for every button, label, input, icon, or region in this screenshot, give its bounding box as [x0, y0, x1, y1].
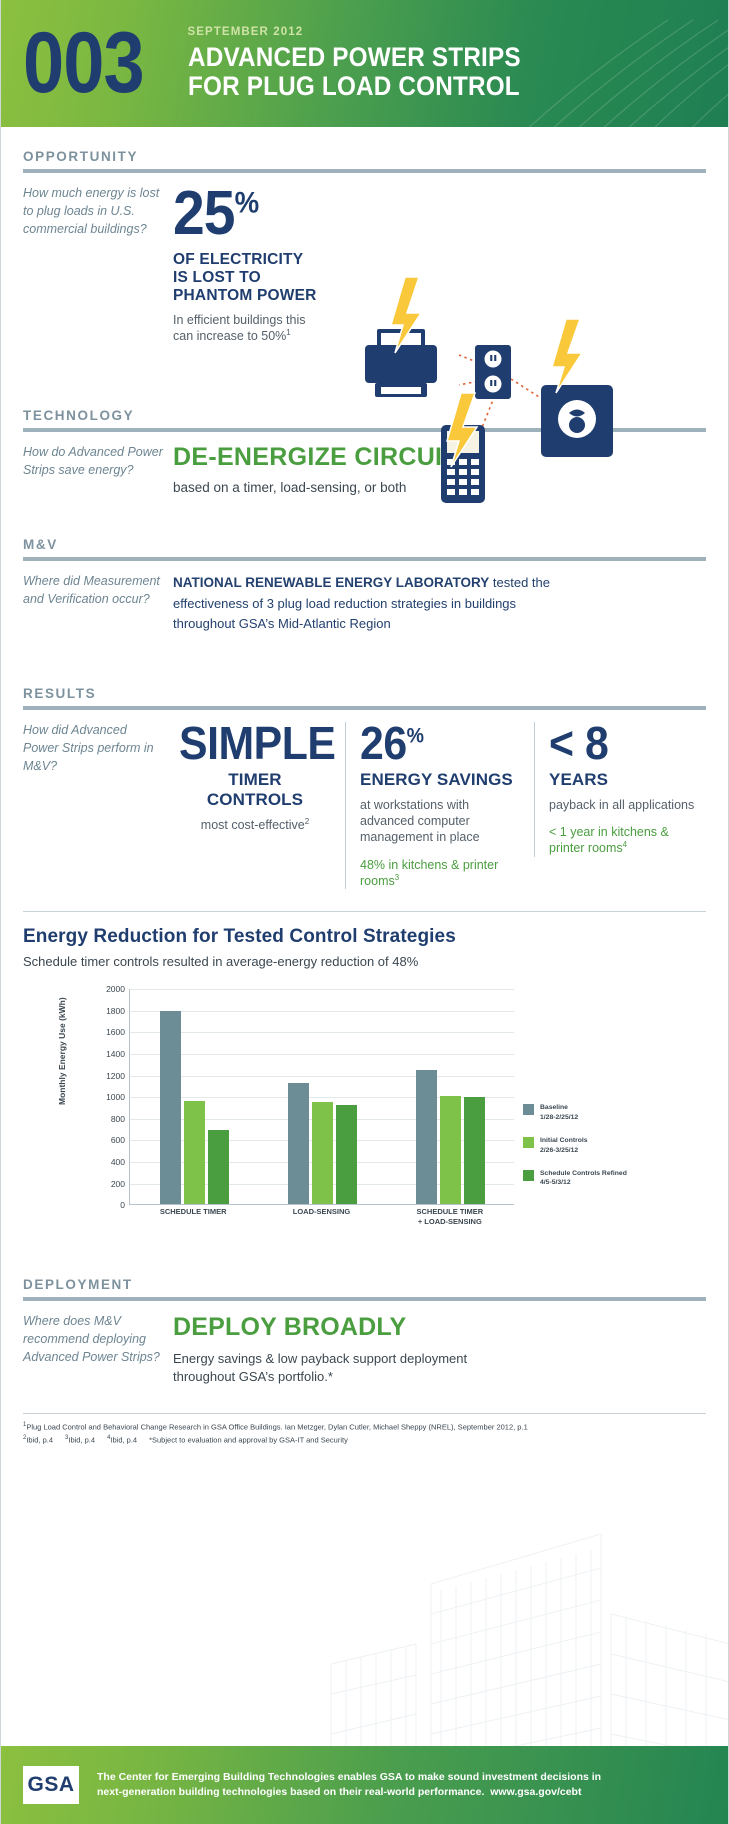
chart-bar-group	[130, 989, 258, 1204]
footer-url[interactable]: www.gsa.gov/cebt	[490, 1786, 581, 1798]
footnote-line-2: 2Ibid, p.43Ibid, p.44Ibid, p.4*Subject t…	[23, 1433, 706, 1447]
chart-legend-label: Baseline1/28-2/25/12	[540, 1103, 578, 1123]
section-divider	[23, 1297, 706, 1301]
publication-date: SEPTEMBER 2012	[188, 26, 558, 38]
results-question: How did Advanced Power Strips perform in…	[23, 722, 173, 889]
technology-question: How do Advanced Power Strips save energy…	[23, 444, 173, 495]
chart-bar	[208, 1130, 229, 1205]
chart-legend-item: Initial Controls2/26-3/25/12	[523, 1136, 633, 1156]
footnotes: 1Plug Load Control and Behavioral Change…	[23, 1414, 706, 1447]
chart-legend-label: Initial Controls2/26-3/25/12	[540, 1136, 588, 1156]
mv-text: NATIONAL RENEWABLE ENERGY LABORATORY tes…	[173, 573, 573, 634]
deployment-row: Where does M&V recommend deploying Advan…	[23, 1313, 706, 1386]
result-column-payback: < 8 YEARS payback in all applications < …	[534, 722, 713, 857]
footnote-marker: 1	[286, 328, 290, 337]
result-green-2: 48% in kitchens & printer rooms3	[360, 857, 520, 890]
infographic-page: 003 SEPTEMBER 2012 ADVANCED POWER STRIPS…	[0, 0, 729, 1824]
footer-line-2: next-generation building technologies ba…	[97, 1785, 601, 1800]
page-body: OPPORTUNITY How much energy is lost to p…	[1, 127, 728, 1447]
result-column-simple: SIMPLE TIMER CONTROLS most cost-effectiv…	[173, 722, 345, 833]
chart-y-tick: 2000	[106, 984, 125, 994]
page-footer: GSA The Center for Emerging Building Tec…	[1, 1746, 728, 1824]
footnote-marker: 3	[395, 873, 399, 882]
chart-y-tick: 400	[111, 1157, 125, 1167]
section-label-mv: M&V	[23, 537, 706, 552]
page-title-line2: FOR PLUG LOAD CONTROL	[188, 72, 521, 101]
footnote-line-1: 1Plug Load Control and Behavioral Change…	[23, 1420, 706, 1434]
chart-y-tick: 200	[111, 1179, 125, 1189]
results-row: How did Advanced Power Strips perform in…	[23, 722, 706, 889]
opportunity-note-line2: can increase to 50%1	[173, 328, 706, 344]
result-caption-3: YEARS	[549, 770, 699, 790]
opportunity-sub-line3: PHANTOM POWER	[173, 287, 706, 305]
mv-question: Where did Measurement and Verification o…	[23, 573, 173, 634]
chart-bar	[312, 1102, 333, 1204]
chart-legend-swatch	[523, 1137, 534, 1148]
chart-bar	[336, 1105, 357, 1204]
mv-answer: NATIONAL RENEWABLE ENERGY LABORATORY tes…	[173, 573, 706, 634]
chart-bar	[464, 1097, 485, 1204]
opportunity-question: How much energy is lost to plug loads in…	[23, 185, 173, 344]
footer-text: The Center for Emerging Building Technol…	[97, 1770, 601, 1800]
section-label-results: RESULTS	[23, 686, 706, 701]
chart-bar	[160, 1011, 181, 1204]
chart-y-tick: 0	[120, 1200, 125, 1210]
result-big-2: 26%	[360, 722, 424, 766]
results-columns: SIMPLE TIMER CONTROLS most cost-effectiv…	[173, 722, 713, 889]
result-big-3: < 8	[549, 722, 608, 766]
section-label-deployment: DEPLOYMENT	[23, 1277, 706, 1292]
opportunity-answer: 25% OF ELECTRICITY IS LOST TO PHANTOM PO…	[173, 185, 706, 344]
deployment-question: Where does M&V recommend deploying Advan…	[23, 1313, 173, 1386]
result-note-1: most cost-effective2	[179, 817, 331, 833]
chart-legend-item: Baseline1/28-2/25/12	[523, 1103, 633, 1123]
chart-title: Energy Reduction for Tested Control Stra…	[23, 926, 706, 948]
chart-x-label: LOAD-SENSING	[257, 1207, 385, 1217]
chart-legend-item: Schedule Controls Refined4/5-5/3/12	[523, 1169, 633, 1189]
opportunity-row: How much energy is lost to plug loads in…	[23, 185, 706, 344]
result-note-3: payback in all applications	[549, 797, 699, 813]
chart-bar	[288, 1083, 309, 1205]
deployment-answer: DEPLOY BROADLY Energy savings & low payb…	[173, 1313, 706, 1386]
chart-y-tick: 1400	[106, 1049, 125, 1059]
opportunity-stat-number: 25	[173, 179, 235, 248]
chart-y-tick: 1200	[106, 1071, 125, 1081]
chart-bar-group	[387, 989, 515, 1204]
chart-y-axis-label: Monthly Energy Use (kWh)	[57, 998, 67, 1106]
mv-row: Where did Measurement and Verification o…	[23, 573, 706, 634]
opportunity-note: In efficient buildings this can increase…	[173, 312, 706, 345]
chart-bar	[184, 1101, 205, 1205]
result-big-1: SIMPLE	[179, 722, 335, 766]
result-caption-2: ENERGY SAVINGS	[360, 770, 520, 790]
section-label-opportunity: OPPORTUNITY	[23, 149, 706, 164]
chart-x-label: SCHEDULE TIMER+ LOAD-SENSING	[386, 1207, 514, 1227]
section-divider	[23, 169, 706, 173]
opportunity-stat: 25%	[173, 185, 258, 244]
chart-bar	[416, 1070, 437, 1204]
bar-chart: Monthly Energy Use (kWh) 020040060080010…	[23, 983, 706, 1263]
footer-line-1: The Center for Emerging Building Technol…	[97, 1770, 601, 1785]
opportunity-stat-sub: OF ELECTRICITY IS LOST TO PHANTOM POWER	[173, 251, 706, 306]
chart-y-tick: 1000	[106, 1092, 125, 1102]
chart-x-label: SCHEDULE TIMER	[129, 1207, 257, 1217]
chart-bar	[440, 1096, 461, 1205]
chart-y-tick: 1600	[106, 1027, 125, 1037]
chart-y-tick: 1800	[106, 1006, 125, 1016]
results-answer: SIMPLE TIMER CONTROLS most cost-effectiv…	[173, 722, 713, 889]
opportunity-note-line1: In efficient buildings this	[173, 312, 706, 328]
chart-divider	[23, 911, 706, 912]
footnote-marker: 2	[305, 817, 309, 826]
deployment-sub: Energy savings & low payback support dep…	[173, 1350, 503, 1386]
mv-bold-lead: NATIONAL RENEWABLE ENERGY LABORATORY	[173, 575, 489, 590]
chart-legend: Baseline1/28-2/25/12Initial Controls2/26…	[523, 1103, 633, 1201]
chart-bar-group	[258, 989, 386, 1204]
result-column-savings: 26% ENERGY SAVINGS at workstations with …	[345, 722, 534, 889]
issue-number: 003	[23, 24, 144, 103]
opportunity-sub-line1: OF ELECTRICITY	[173, 251, 706, 269]
chart-legend-swatch	[523, 1170, 534, 1181]
chart-subtitle: Schedule timer controls resulted in aver…	[23, 954, 706, 969]
page-title-line1: ADVANCED POWER STRIPS	[188, 43, 521, 72]
result-green-3: < 1 year in kitchens & printer rooms4	[549, 824, 699, 857]
chart-y-tick: 800	[111, 1114, 125, 1124]
gsa-logo: GSA	[23, 1766, 79, 1804]
opportunity-stat-percent: %	[235, 186, 259, 219]
appliance-icon	[541, 385, 613, 457]
page-header: 003 SEPTEMBER 2012 ADVANCED POWER STRIPS…	[1, 0, 728, 127]
chart-legend-swatch	[523, 1104, 534, 1115]
result-caption-1: TIMER CONTROLS	[179, 770, 331, 810]
header-text-block: SEPTEMBER 2012 ADVANCED POWER STRIPS FOR…	[188, 26, 558, 101]
footnote-marker: 4	[623, 840, 627, 849]
chart-legend-label: Schedule Controls Refined4/5-5/3/12	[540, 1169, 627, 1189]
chart-plot-area: 0200400600800100012001400160018002000	[129, 989, 514, 1205]
section-divider	[23, 557, 706, 561]
section-divider	[23, 706, 706, 710]
result-note-2: at workstations with advanced computer m…	[360, 797, 520, 846]
deployment-headline: DEPLOY BROADLY	[173, 1313, 706, 1342]
chart-y-tick: 600	[111, 1135, 125, 1145]
opportunity-sub-line2: IS LOST TO	[173, 269, 706, 287]
